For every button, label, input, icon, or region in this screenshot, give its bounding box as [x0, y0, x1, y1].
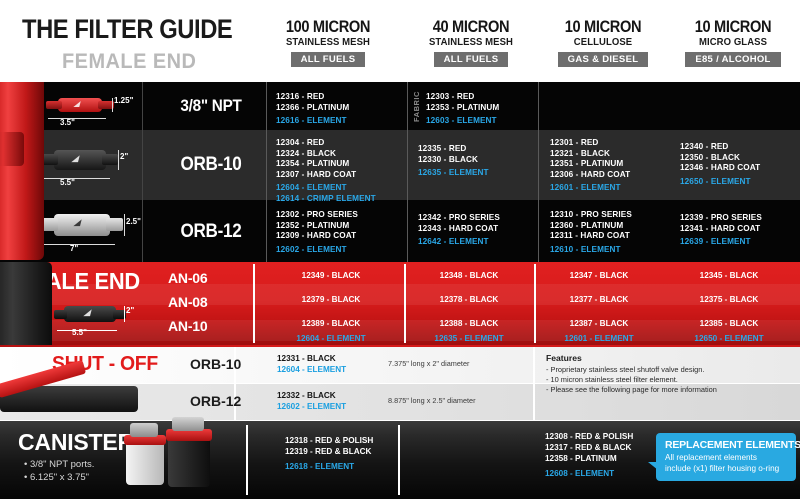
part-code: 12348 - BLACK	[404, 271, 534, 280]
product-photo-orb10: ◢ 5.5" 2"	[40, 134, 135, 198]
part-codes-r0c1: 12303 - RED 12353 - PLATINUM 12603 - ELE…	[426, 92, 499, 127]
dimension-height: 1.25"	[114, 96, 133, 105]
part-code: 12354 - PLATINUM	[276, 159, 376, 170]
part-code: 12310 - PRO SERIES	[550, 210, 632, 221]
part-code: 12319 - RED & BLACK	[285, 446, 373, 457]
element-code: 12608 - ELEMENT	[545, 468, 633, 479]
hero-filter-red-image	[0, 70, 44, 260]
dimension-text-orb12: 8.875" long x 2.5" diameter	[388, 396, 476, 405]
part-code: 12304 - RED	[276, 138, 376, 149]
part-code: 12379 - BLACK	[266, 295, 396, 304]
element-code: 12601 - ELEMENT	[534, 334, 664, 343]
canister-spec-item: • 6.125" x 3.75"	[24, 471, 94, 484]
column-divider	[246, 425, 248, 495]
fabric-tag: FABRIC	[412, 91, 421, 122]
element-code: 12642 - ELEMENT	[418, 237, 500, 248]
part-code: 12349 - BLACK	[266, 271, 396, 280]
features-block: Features - Proprietary stainless steel s…	[546, 353, 717, 395]
part-code: 12378 - BLACK	[404, 295, 534, 304]
column-micron-1: 40 MICRON	[417, 18, 525, 36]
feature-item: - Proprietary stainless steel shutoff va…	[546, 365, 717, 375]
canister-specs: • 3/8" NPT ports. • 6.125" x 3.75"	[24, 458, 94, 484]
replacement-elements-callout: REPLACEMENT ELEMENTS All replacement ele…	[656, 433, 796, 481]
column-fuel-badge-2: GAS & DIESEL	[558, 52, 649, 67]
part-code: 12330 - BLACK	[418, 155, 489, 166]
part-code: 12307 - HARD COAT	[276, 170, 376, 181]
part-code: 12316 - RED	[276, 92, 349, 103]
canister-spec-item: • 3/8" NPT ports.	[24, 458, 94, 471]
column-divider	[398, 425, 400, 495]
element-code: 12635 - ELEMENT	[418, 168, 489, 179]
part-code: 12360 - PLATINUM	[550, 221, 632, 232]
column-header-1: 40 MICRON STAINLESS MESH ALL FUELS	[408, 18, 534, 67]
part-code: 12311 - HARD COAT	[550, 231, 632, 242]
column-divider	[142, 82, 143, 262]
section-title-female-end: FEMALE END	[62, 50, 196, 74]
section-title-canister: CANISTER	[18, 429, 134, 456]
element-code: 12639 - ELEMENT	[680, 237, 762, 248]
part-code: 12321 - BLACK	[550, 149, 630, 160]
column-micron-2: 10 MICRON	[549, 18, 657, 36]
part-code: 12385 - BLACK	[664, 319, 794, 328]
part-code: 12309 - HARD COAT	[276, 231, 358, 242]
product-photo-npt: ◢ 3.5" 1.25"	[40, 86, 135, 130]
row-label-an10: AN-10	[168, 318, 258, 334]
feature-item: - 10 micron stainless steel filter eleme…	[546, 375, 717, 385]
hero-filter-black-image	[0, 262, 52, 350]
part-code: 12366 - PLATINUM	[276, 103, 349, 114]
part-code: 12375 - BLACK	[664, 295, 794, 304]
part-code: 12343 - HARD COAT	[418, 224, 500, 235]
part-codes-r1c3: 12340 - RED 12350 - BLACK 12346 - HARD C…	[680, 142, 760, 187]
column-micron-0: 100 MICRON	[274, 18, 382, 36]
part-code: 12303 - RED	[426, 92, 499, 103]
dimension-length: 5.5"	[60, 178, 75, 187]
column-fuel-badge-3: E85 / ALCOHOL	[685, 52, 780, 67]
product-photo-orb12: ◢ 7" 2.5"	[40, 202, 135, 260]
part-code: 12302 - PRO SERIES	[276, 210, 358, 221]
features-title: Features	[546, 353, 717, 363]
column-divider	[538, 82, 539, 262]
part-codes-r0c0: 12316 - RED 12366 - PLATINUM 12616 - ELE…	[276, 92, 349, 127]
part-code: 12389 - BLACK	[266, 319, 396, 328]
callout-title: REPLACEMENT ELEMENTS	[665, 439, 788, 451]
element-code: 12610 - ELEMENT	[550, 245, 632, 256]
part-codes-r1c0: 12304 - RED 12324 - BLACK 12354 - PLATIN…	[276, 138, 376, 205]
part-codes-r2c0: 12302 - PRO SERIES 12352 - PLATINUM 1230…	[276, 210, 358, 255]
element-code: 12604 - ELEMENT	[266, 334, 396, 343]
part-code: 12352 - PLATINUM	[276, 221, 358, 232]
part-code: 12377 - BLACK	[534, 295, 664, 304]
part-codes-r2c1: 12342 - PRO SERIES 12343 - HARD COAT 126…	[418, 213, 500, 248]
part-code: 12347 - BLACK	[534, 271, 664, 280]
element-code: 12650 - ELEMENT	[664, 334, 794, 343]
part-code: 12340 - RED	[680, 142, 760, 153]
part-code: 12346 - HARD COAT	[680, 163, 760, 174]
page-header: THE FILTER GUIDE FEMALE END 100 MICRON S…	[0, 0, 800, 82]
part-codes-r1c2: 12301 - RED 12321 - BLACK 12351 - PLATIN…	[550, 138, 630, 194]
part-code: 12388 - BLACK	[404, 319, 534, 328]
element-code: 12618 - ELEMENT	[285, 461, 373, 472]
element-code: 12616 - ELEMENT	[276, 116, 349, 127]
element-code: 12602 - ELEMENT	[276, 245, 358, 256]
column-header-2: 10 MICRON CELLULOSE GAS & DIESEL	[540, 18, 666, 67]
column-divider	[407, 82, 408, 262]
dimension-length: 3.5"	[60, 118, 75, 127]
element-code: 12604 - ELEMENT	[277, 365, 346, 376]
element-code: 12602 - ELEMENT	[277, 402, 346, 413]
female-end-table: ◢ 3.5" 1.25" 3/8" NPT FABRIC 12316 - RED…	[0, 82, 800, 262]
page-title: THE FILTER GUIDE	[22, 14, 232, 45]
part-code: 12341 - HARD COAT	[680, 224, 762, 235]
dimension-text-orb10: 7.375" long x 2" diameter	[388, 359, 469, 368]
column-header-0: 100 MICRON STAINLESS MESH ALL FUELS	[265, 18, 391, 67]
part-code: 12318 - RED & POLISH	[285, 435, 373, 446]
part-codes-shutoff-orb10: 12331 - BLACK 12604 - ELEMENT	[277, 354, 346, 375]
part-codes-r2c3: 12339 - PRO SERIES 12341 - HARD COAT 126…	[680, 213, 762, 248]
hero-filter-cap	[0, 132, 24, 166]
element-code: 12604 - ELEMENT	[276, 183, 376, 194]
part-code: 12306 - HARD COAT	[550, 170, 630, 181]
part-codes-shutoff-orb12: 12332 - BLACK 12602 - ELEMENT	[277, 391, 346, 412]
part-code: 12324 - BLACK	[276, 149, 376, 160]
part-code: 12345 - BLACK	[664, 271, 794, 280]
element-code: 12601 - ELEMENT	[550, 183, 630, 194]
part-code: 12308 - RED & POLISH	[545, 431, 633, 442]
column-material-3: MICRO GLASS	[673, 36, 793, 49]
row-label-orb10: ORB-10	[153, 154, 270, 176]
part-code: 12342 - PRO SERIES	[418, 213, 500, 224]
dimension-height: 2"	[126, 306, 134, 315]
column-material-2: CELLULOSE	[543, 36, 663, 49]
row-label-shutoff-orb10: ORB-10	[190, 356, 290, 372]
part-code: 12317 - RED & BLACK	[545, 442, 633, 453]
element-code: 12650 - ELEMENT	[680, 177, 760, 188]
column-material-1: STAINLESS MESH	[411, 36, 531, 49]
callout-line-1: All replacement elements	[665, 453, 788, 464]
feature-item: - Please see the following page for more…	[546, 385, 717, 395]
male-end-section: MALE END AN-06 AN-08 AN-10 ◢ 5.5" 2" 123…	[0, 262, 800, 345]
column-divider	[253, 264, 255, 343]
part-codes-r1c1: 12335 - RED 12330 - BLACK 12635 - ELEMEN…	[418, 144, 489, 179]
element-code: 12603 - ELEMENT	[426, 116, 499, 127]
part-code: 12351 - PLATINUM	[550, 159, 630, 170]
column-fuel-badge-1: ALL FUELS	[434, 52, 509, 67]
column-fuel-badge-0: ALL FUELS	[291, 52, 366, 67]
row-label-an08: AN-08	[168, 294, 258, 310]
callout-line-2: include (x1) filter housing o-ring	[665, 464, 788, 475]
row-label-orb12: ORB-12	[153, 221, 270, 243]
part-code: 12339 - PRO SERIES	[680, 213, 762, 224]
column-header-3: 10 MICRON MICRO GLASS E85 / ALCOHOL	[670, 18, 796, 67]
part-codes-canister-right: 12308 - RED & POLISH 12317 - RED & BLACK…	[545, 431, 633, 479]
column-divider	[533, 347, 535, 420]
row-label-npt: 3/8" NPT	[153, 96, 270, 116]
dimension-length: 7"	[70, 244, 78, 253]
part-code: 12350 - BLACK	[680, 153, 760, 164]
dimension-height: 2.5"	[126, 217, 141, 226]
dimension-height: 2"	[120, 152, 128, 161]
part-codes-r2c2: 12310 - PRO SERIES 12360 - PLATINUM 1231…	[550, 210, 632, 255]
element-code: 12614 - CRIMP ELEMENT	[276, 194, 376, 205]
column-micron-3: 10 MICRON	[679, 18, 787, 36]
part-code: 12301 - RED	[550, 138, 630, 149]
row-label-an06: AN-06	[168, 270, 258, 286]
part-code: 12332 - BLACK	[277, 391, 346, 402]
part-code: 12358 - PLATINUM	[545, 453, 633, 464]
part-code: 12353 - PLATINUM	[426, 103, 499, 114]
part-code: 12387 - BLACK	[534, 319, 664, 328]
column-material-0: STAINLESS MESH	[268, 36, 388, 49]
part-code: 12331 - BLACK	[277, 354, 346, 365]
element-code: 12635 - ELEMENT	[404, 334, 534, 343]
part-codes-canister-left: 12318 - RED & POLISH 12319 - RED & BLACK…	[285, 435, 373, 472]
dimension-length: 5.5"	[72, 328, 87, 337]
row-label-shutoff-orb12: ORB-12	[190, 393, 290, 409]
filter-guide-page: THE FILTER GUIDE FEMALE END 100 MICRON S…	[0, 0, 800, 499]
part-code: 12335 - RED	[418, 144, 489, 155]
